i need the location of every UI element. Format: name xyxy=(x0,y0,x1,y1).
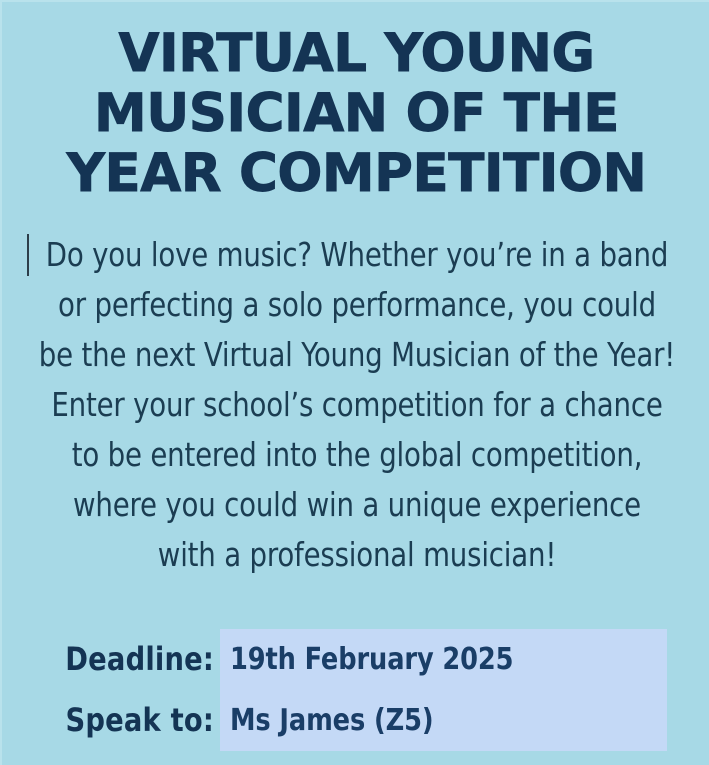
speak-to-value: Ms James (Z5) xyxy=(230,690,433,751)
detail-row-deadline[interactable]: Deadline: 19th February 2025 xyxy=(2,629,709,690)
speak-to-value-field[interactable]: Ms James (Z5) xyxy=(220,690,667,751)
poster-canvas[interactable]: VIRTUAL YOUNG MUSICIAN OF THE YEAR COMPE… xyxy=(0,0,709,765)
poster-title-line-2: MUSICIAN OF THE xyxy=(2,84,709,144)
deadline-label: Deadline: xyxy=(13,629,214,690)
detail-row-speak-to[interactable]: Speak to: Ms James (Z5) xyxy=(2,690,709,751)
deadline-value-field[interactable]: 19th February 2025 xyxy=(220,629,667,690)
deadline-value: 19th February 2025 xyxy=(230,629,513,690)
body-line-4: Enter your school’s competition for a ch… xyxy=(34,380,679,430)
poster-body-text[interactable]: Do you love music? Whether you’re in a b… xyxy=(10,230,704,580)
poster-title-line-1: VIRTUAL YOUNG xyxy=(2,24,709,84)
text-cursor-caret xyxy=(27,234,29,276)
body-line-2: or perfecting a solo performance, you co… xyxy=(34,280,679,330)
poster-title-line-3: YEAR COMPETITION xyxy=(2,144,709,204)
speak-to-label: Speak to: xyxy=(13,690,214,751)
body-line-6: where you could win a unique experience xyxy=(34,480,679,530)
poster-details: Deadline: 19th February 2025 Speak to: M… xyxy=(2,626,709,754)
body-line-7: with a professional musician! xyxy=(34,530,679,580)
body-line-3: be the next Virtual Young Musician of th… xyxy=(34,330,679,380)
body-line-1: Do you love music? Whether you’re in a b… xyxy=(34,230,679,280)
body-line-5: to be entered into the global competitio… xyxy=(34,430,679,480)
poster-title[interactable]: VIRTUAL YOUNG MUSICIAN OF THE YEAR COMPE… xyxy=(2,24,709,204)
